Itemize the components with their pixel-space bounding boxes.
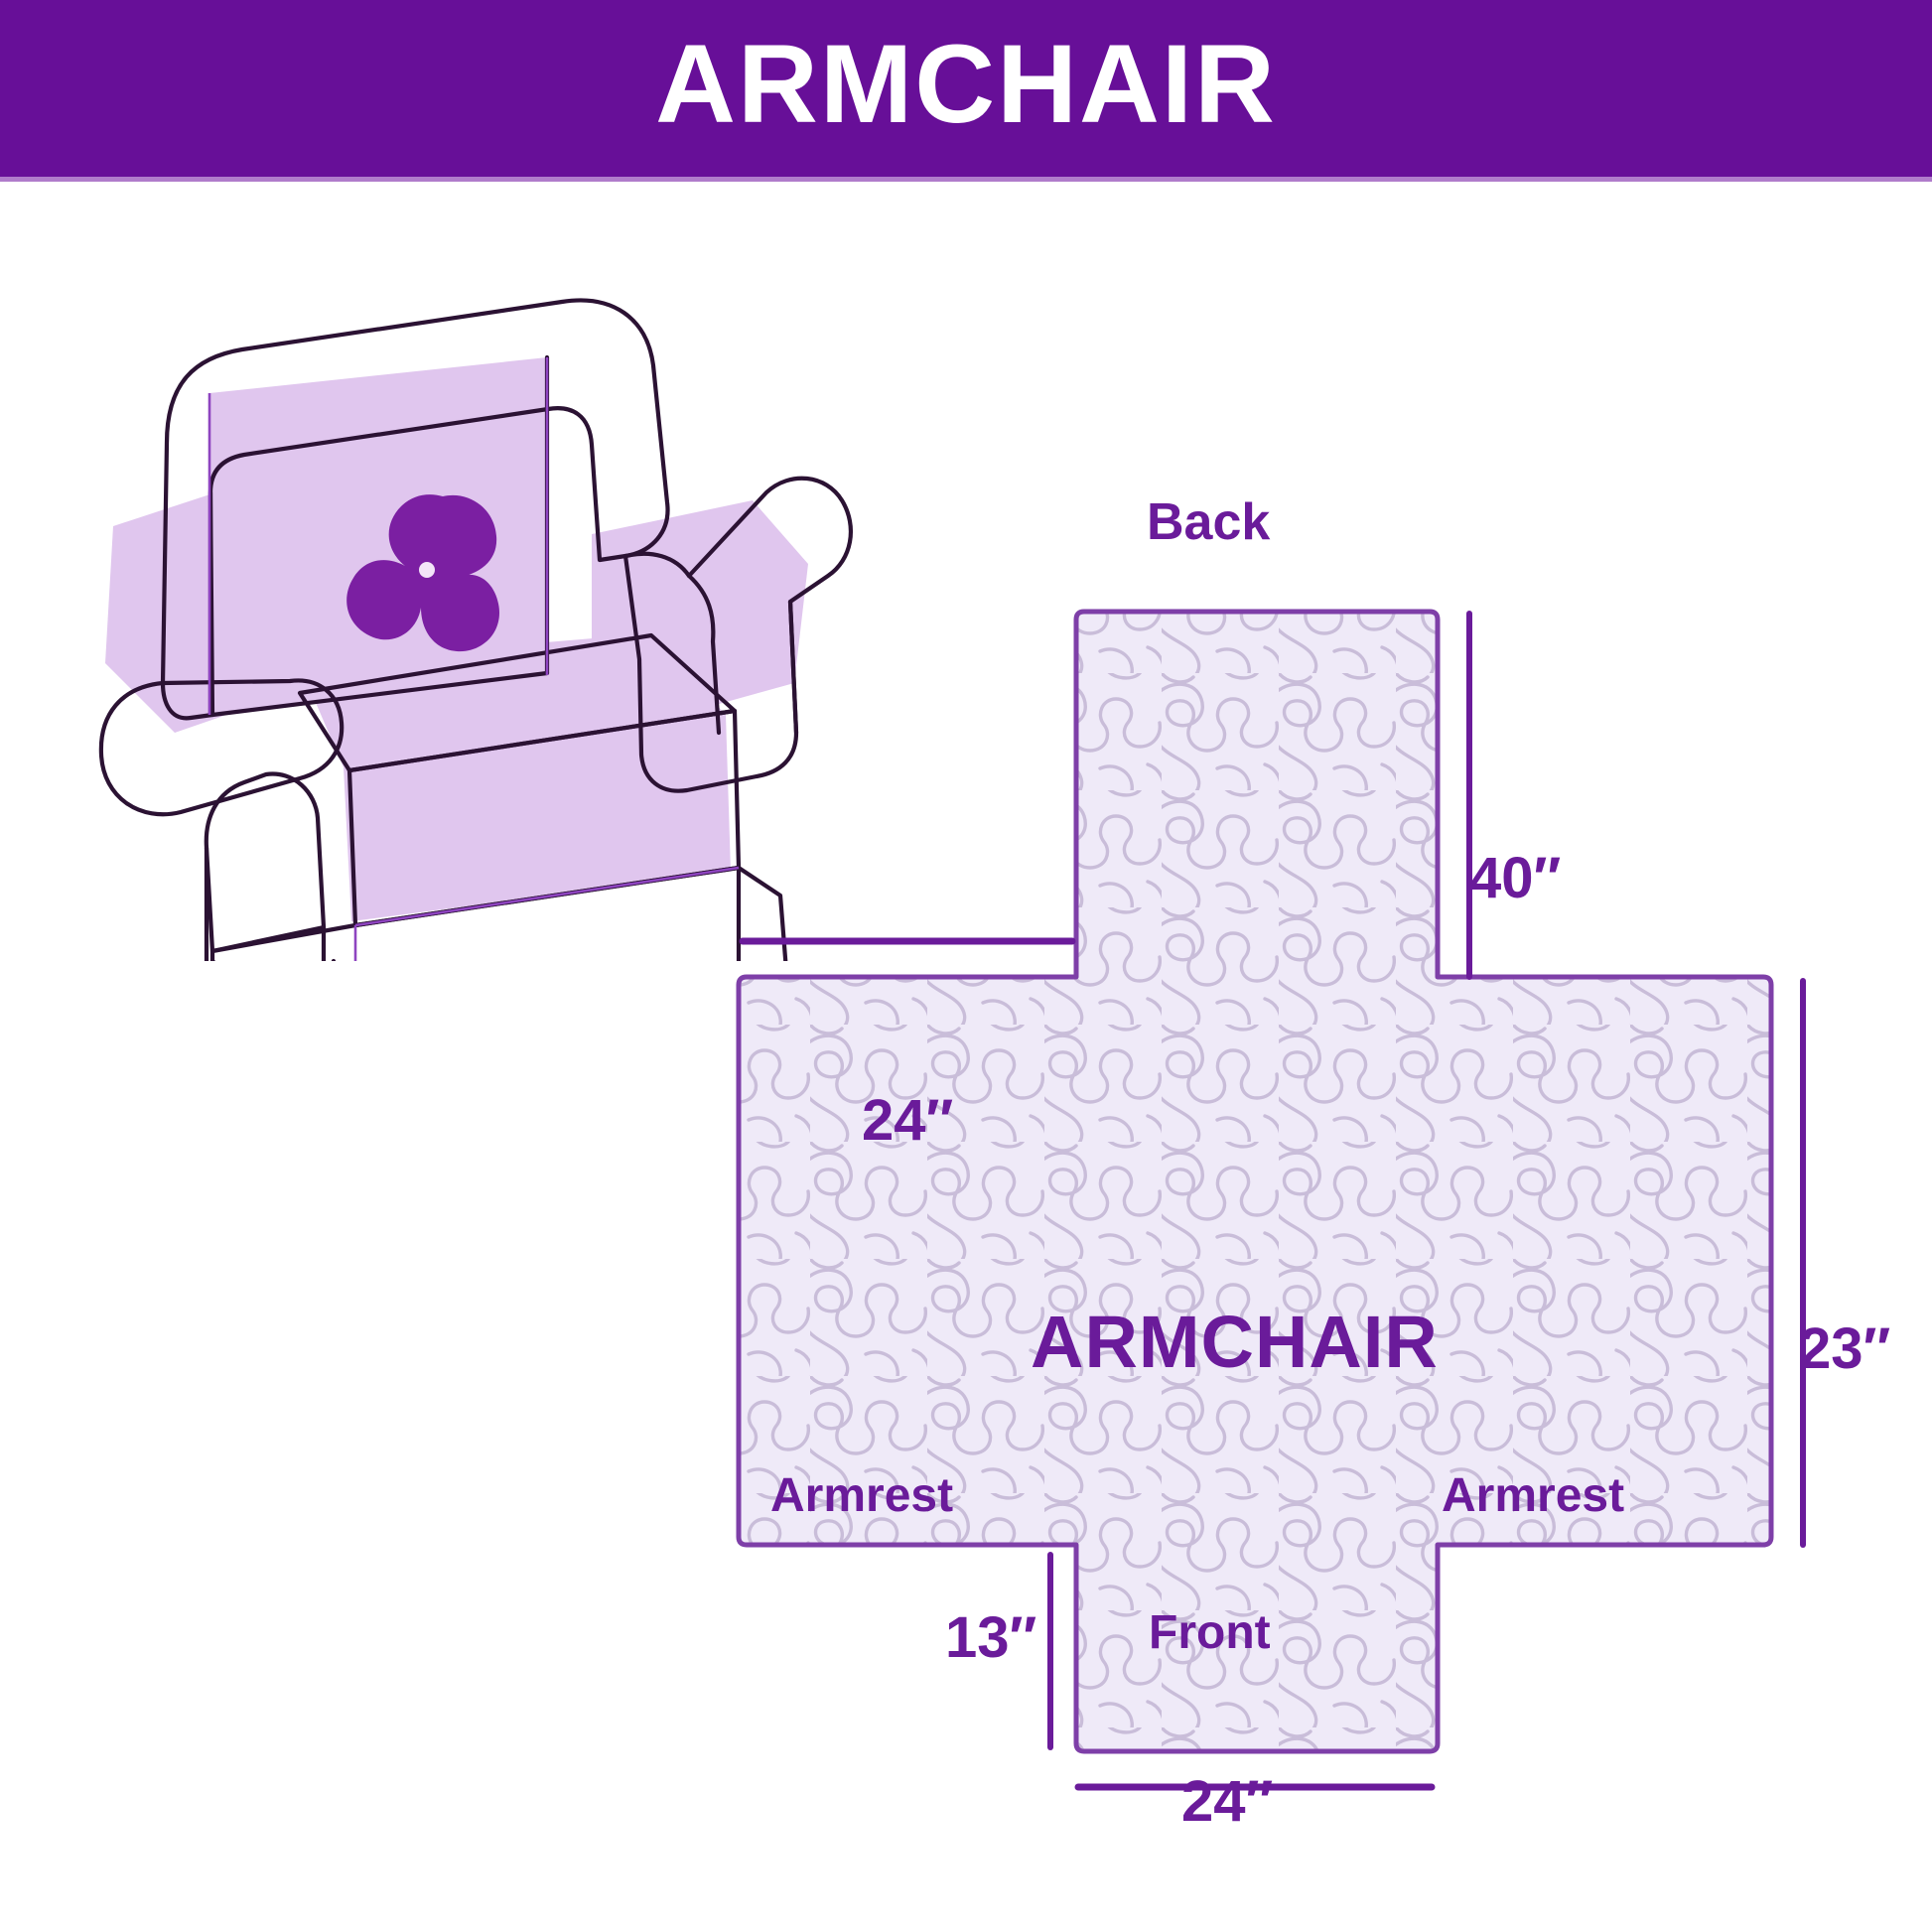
diagram-center-label: ARMCHAIR [1031,1306,1439,1379]
header-banner: ARMCHAIR [0,0,1932,177]
dimension-label-front-width: 24″ [1181,1773,1273,1831]
panel-label-armrest-left: Armrest [770,1472,953,1520]
dimension-label-front-height: 13″ [945,1609,1036,1667]
panel-label-back: Back [1147,496,1270,548]
dimension-label-back-width: 24″ [862,1092,953,1150]
panel-label-armrest-right: Armrest [1442,1472,1624,1520]
slipcover-cross-shape [739,612,1771,1751]
dimension-label-back-height: 40″ [1469,850,1561,907]
panel-label-front: Front [1149,1609,1271,1657]
product-dimension-infographic: ARMCHAIR .ol { fill:none; stroke:#2B1233… [0,0,1932,1932]
dimension-label-armrest-height: 23″ [1799,1320,1890,1378]
page-title: ARMCHAIR [655,29,1277,140]
header-underline-divider [0,177,1932,182]
